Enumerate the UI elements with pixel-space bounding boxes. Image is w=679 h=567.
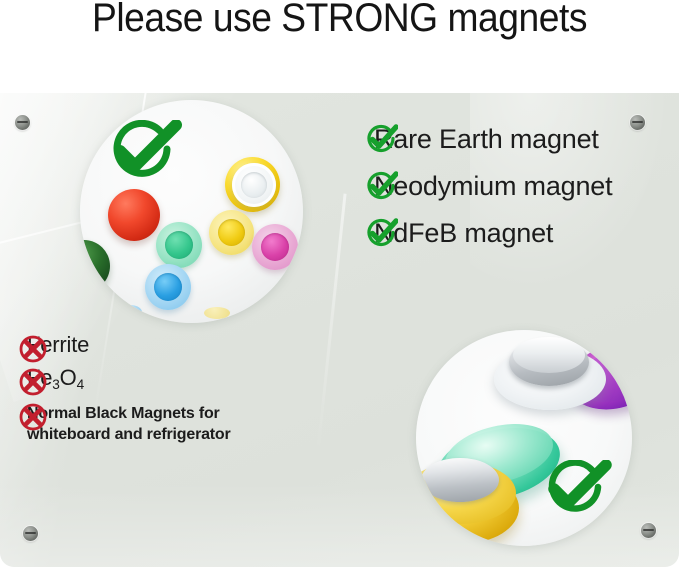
list-item: Neodymium magnet (364, 171, 612, 202)
list-item-label-line1: Normal Black Magnets for (27, 405, 220, 422)
big-green-check-icon (540, 460, 612, 522)
list-item-label: Normal Black Magnets forwhiteboard and r… (27, 404, 297, 445)
formula-o: O (60, 365, 77, 390)
list-item: Fe3O4 (18, 367, 297, 391)
formula-sub-4: 4 (77, 377, 84, 392)
glass-reflection-streak (316, 194, 346, 453)
page-title: Please use STRONG magnets (24, 0, 655, 41)
approved-magnet-list: Rare Earth magnet Neodymium magnet NdFeB… (364, 124, 612, 265)
blue-disc-magnet-partial (118, 305, 142, 319)
list-item-label: Rare Earth magnet (374, 124, 599, 155)
red-cross-circle-icon (18, 367, 48, 397)
screw-bottom-left (23, 526, 38, 541)
list-item: Normal Black Magnets forwhiteboard and r… (18, 402, 297, 445)
screw-top-right (630, 115, 645, 130)
screw-top-left (15, 115, 30, 130)
colorful-magnets-photo (80, 100, 303, 323)
clear-glass-magnet-silver-top (513, 337, 585, 373)
green-disc-magnet-core (165, 231, 193, 259)
red-cross-circle-icon (18, 402, 48, 432)
glass-magnets-photo (416, 330, 632, 546)
list-item-label: NdFeB magnet (374, 218, 553, 249)
screw-bottom-right (641, 523, 656, 538)
red-ball-magnet (108, 189, 160, 241)
gold-glass-magnet-silver-disc (421, 458, 499, 502)
list-item-label-line2: whiteboard and refrigerator (27, 426, 231, 443)
green-check-circle-icon (364, 124, 398, 156)
blue-disc-magnet-core (154, 273, 182, 301)
rejected-magnet-list: Ferrite Fe3O4 Normal Black Magnets forwh… (18, 334, 297, 456)
list-item: Rare Earth magnet (364, 124, 612, 155)
list-item: Ferrite (18, 334, 297, 356)
red-cross-circle-icon (18, 334, 48, 364)
clear-disc-magnet-core (241, 172, 267, 198)
pink-disc-magnet-core (261, 233, 289, 261)
list-item-label: Neodymium magnet (374, 171, 612, 202)
list-item: NdFeB magnet (364, 218, 612, 249)
green-check-circle-icon (364, 171, 398, 203)
yellow-disc-magnet-core (218, 219, 245, 246)
poster-canvas: Please use STRONG magnets (0, 0, 679, 567)
yellow-disc-magnet-partial (204, 307, 230, 319)
formula-sub-3: 3 (52, 377, 59, 392)
green-check-circle-icon (364, 218, 398, 250)
big-green-check-icon (104, 120, 182, 186)
